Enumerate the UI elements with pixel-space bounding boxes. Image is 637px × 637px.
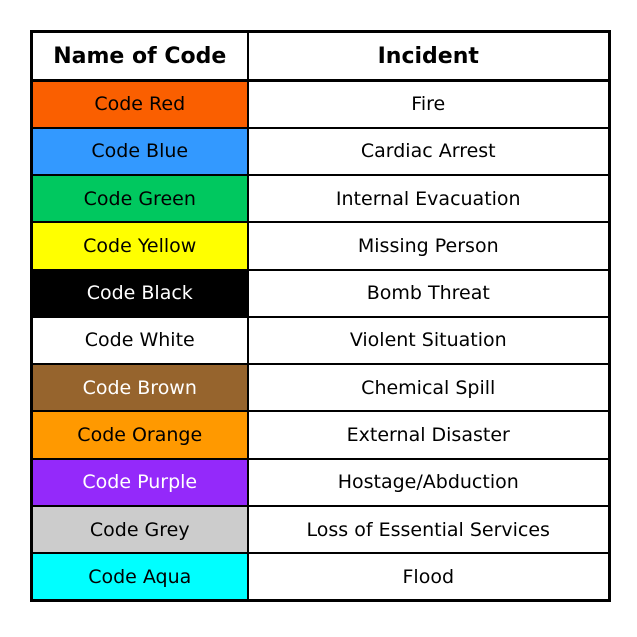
table-row: Code WhiteViolent Situation — [32, 317, 610, 364]
code-name-cell: Code Brown — [32, 364, 248, 411]
incident-cell: Missing Person — [248, 222, 610, 269]
code-name-cell: Code Blue — [32, 128, 248, 175]
table-row: Code YellowMissing Person — [32, 222, 610, 269]
code-name-cell: Code Grey — [32, 506, 248, 553]
incident-cell: Hostage/Abduction — [248, 459, 610, 506]
table-row: Code RedFire — [32, 81, 610, 128]
table-row: Code BlueCardiac Arrest — [32, 128, 610, 175]
table-row: Code PurpleHostage/Abduction — [32, 459, 610, 506]
code-name-cell: Code Aqua — [32, 553, 248, 600]
incident-cell: Bomb Threat — [248, 270, 610, 317]
table-row: Code BrownChemical Spill — [32, 364, 610, 411]
code-name-cell: Code Green — [32, 175, 248, 222]
table-body: Code RedFireCode BlueCardiac ArrestCode … — [32, 81, 610, 601]
code-name-cell: Code White — [32, 317, 248, 364]
page-root: Name of Code Incident Code RedFireCode B… — [0, 0, 637, 637]
incident-cell: Flood — [248, 553, 610, 600]
table-row: Code GreyLoss of Essential Services — [32, 506, 610, 553]
incident-cell: Fire — [248, 81, 610, 128]
incident-cell: Chemical Spill — [248, 364, 610, 411]
emergency-codes-table: Name of Code Incident Code RedFireCode B… — [30, 30, 611, 602]
column-header-name-of-code: Name of Code — [32, 32, 248, 81]
table-row: Code BlackBomb Threat — [32, 270, 610, 317]
incident-cell: Internal Evacuation — [248, 175, 610, 222]
code-name-cell: Code Orange — [32, 411, 248, 458]
incident-cell: Cardiac Arrest — [248, 128, 610, 175]
incident-cell: External Disaster — [248, 411, 610, 458]
incident-cell: Loss of Essential Services — [248, 506, 610, 553]
code-name-cell: Code Yellow — [32, 222, 248, 269]
code-name-cell: Code Purple — [32, 459, 248, 506]
table-header-row: Name of Code Incident — [32, 32, 610, 81]
table-row: Code OrangeExternal Disaster — [32, 411, 610, 458]
code-name-cell: Code Red — [32, 81, 248, 128]
table-header: Name of Code Incident — [32, 32, 610, 81]
table-row: Code AquaFlood — [32, 553, 610, 600]
column-header-incident: Incident — [248, 32, 610, 81]
incident-cell: Violent Situation — [248, 317, 610, 364]
table-row: Code GreenInternal Evacuation — [32, 175, 610, 222]
code-name-cell: Code Black — [32, 270, 248, 317]
